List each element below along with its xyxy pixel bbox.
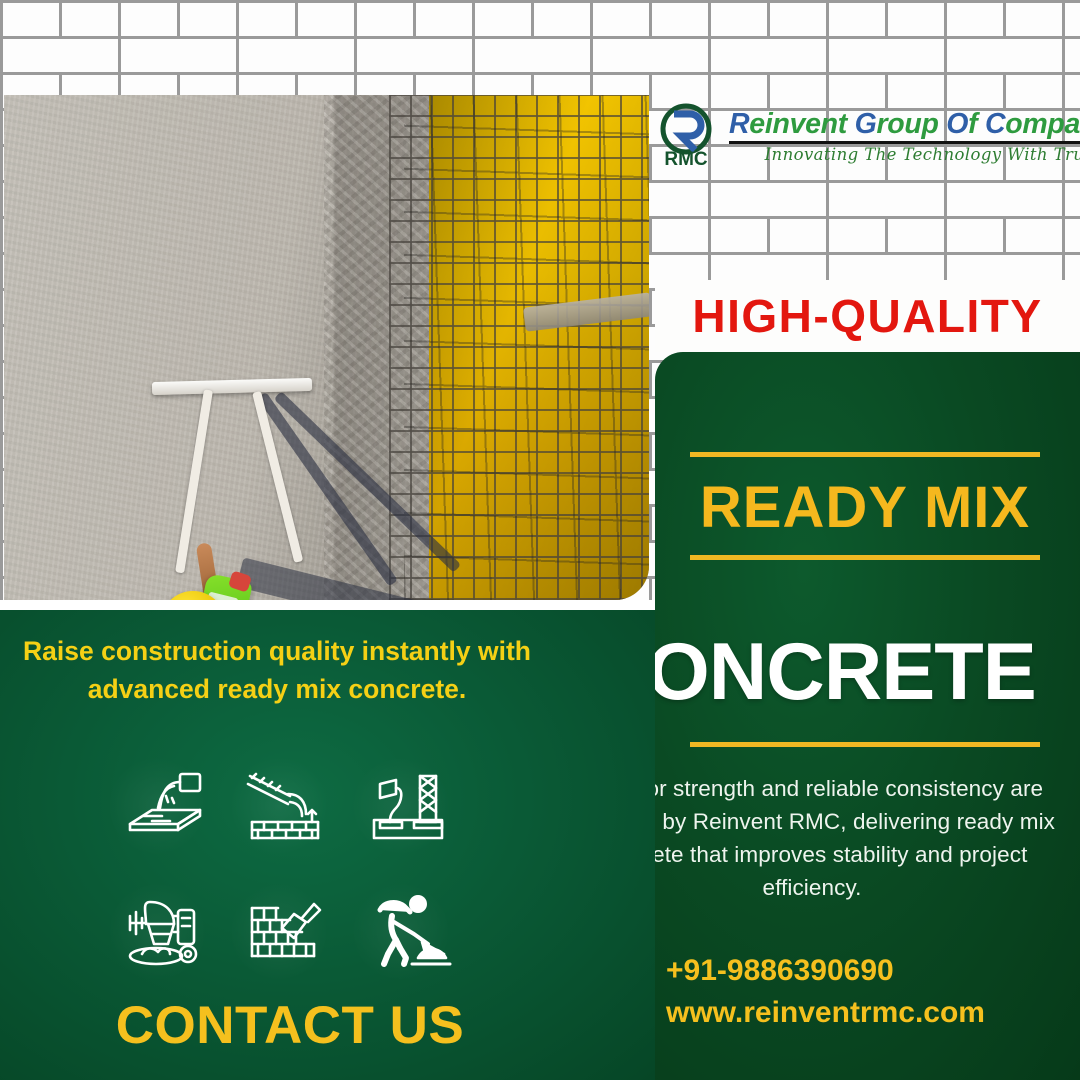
rmc-monogram-icon: RMC [655,102,723,170]
concrete-pouring-slab-icon [104,752,226,860]
left-tagline-text: Raise construction quality instantly wit… [22,632,532,708]
logo-tagline: Innovating The Technology With Trust [729,145,1080,164]
svg-text:RMC: RMC [664,149,708,170]
contact-us-heading: CONTACT US [70,995,510,1057]
service-icon-row-1 [104,752,470,860]
hero-photo [4,95,649,600]
cement-mixer-icon [104,878,226,986]
poster-canvas: RMC Reinvent Group Of Companies Innovati… [0,0,1080,1080]
logo-company-name: Reinvent Group Of Companies [729,110,1080,139]
rule-above-ready-mix [690,452,1040,457]
service-icon-row-2 [104,878,470,986]
worker-shoveling-icon [348,878,470,986]
rule-below-ready-mix [690,555,1040,560]
contact-text-lines: +91-9886390690 www.reinventrmc.com [666,952,985,1032]
photo-panel-gap [0,600,655,610]
rebar-mesh-secondary [404,95,649,600]
concrete-pump-brickwork-icon [226,752,348,860]
rule-below-concrete [690,742,1040,747]
logo-wordmark: Reinvent Group Of Companies Innovating T… [729,108,1080,165]
service-icon-grid [104,752,470,1004]
contact-website[interactable]: www.reinventrmc.com [666,994,985,1032]
logo-divider [729,141,1080,144]
brick-wall-trowel-icon [226,878,348,986]
eyebrow-text: HIGH-QUALITY [655,288,1080,344]
contact-phone[interactable]: +91-9886390690 [666,952,985,990]
crane-foundation-icon [348,752,470,860]
headline-ready-mix: READY MIX [690,473,1040,543]
brand-logo: RMC Reinvent Group Of Companies Innovati… [655,100,1075,172]
ready-mix-block: READY MIX [690,452,1040,560]
